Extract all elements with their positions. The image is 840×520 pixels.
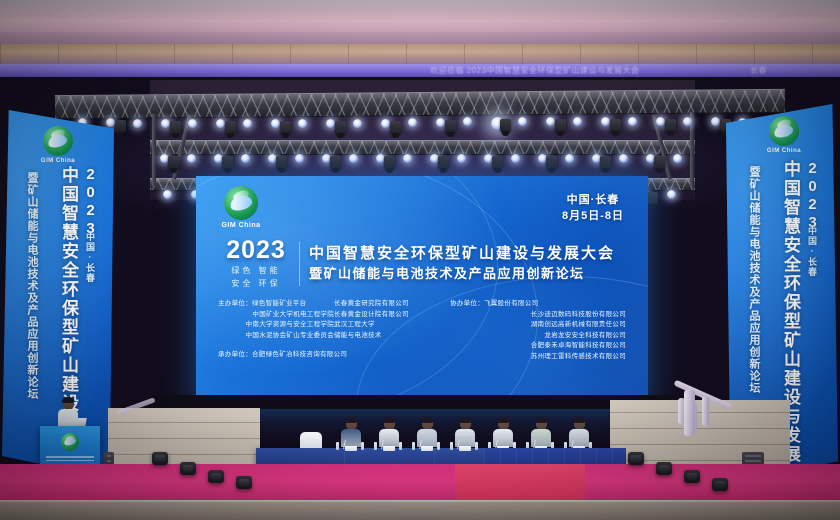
- co-col-3: 龙岩龙安安全科技有限公司: [450, 331, 626, 342]
- mid-truss: [150, 140, 695, 155]
- stage-lamp: [573, 117, 582, 126]
- moving-head-floor-light: [628, 452, 644, 465]
- banner-right-location: 中国·长春: [806, 226, 819, 277]
- host-col2-row1: 长春黄金设计院有限公司: [334, 310, 450, 321]
- stage-lamp: [187, 154, 196, 163]
- screen-dates: 8月5日-8日: [562, 208, 624, 224]
- gim-china-logo-icon: [769, 116, 799, 146]
- venue-ceiling: [0, 0, 840, 46]
- screen-slogan-2: 安全 环保: [222, 278, 290, 289]
- moving-head-light: [492, 156, 503, 170]
- stage-lamp: [673, 154, 682, 163]
- stage-lamp: [667, 190, 676, 199]
- water-bottle: [412, 442, 415, 450]
- baluster-post: [702, 396, 709, 426]
- co-col-1: 长沙迪迈数码科技股份有限公司: [450, 310, 626, 321]
- host-col1-row1: 中国矿业大学机电工程学院: [218, 310, 334, 321]
- stair-edge: [108, 422, 260, 423]
- screen-titles: 中国智慧安全环保型矿山建设与发展大会 暨矿山储能与电池技术及产品应用创新论坛: [309, 244, 622, 283]
- light-lens: [183, 465, 193, 472]
- name-plate: [459, 446, 471, 451]
- ticker-text-right: 长春: [750, 65, 767, 76]
- screen-logo-text: GIM China: [210, 222, 272, 229]
- moving-head-light: [222, 156, 233, 170]
- light-lens: [687, 473, 697, 480]
- moving-head-light: [390, 121, 401, 135]
- front-step: [0, 502, 840, 520]
- speaker-hair: [62, 397, 74, 403]
- stage-lamp: [511, 154, 520, 163]
- banner-right-year: 2023: [804, 160, 821, 232]
- screen-location: 中国·长春: [562, 192, 624, 208]
- screen-year-block: 2023 绿色 智能 安全 环保: [222, 238, 290, 289]
- banner-right-logo-text: GIM China: [754, 148, 814, 154]
- host-col2-row3: 储能与电池技术: [334, 331, 450, 342]
- panelist-hair: [345, 417, 357, 423]
- gim-china-logo-icon: [43, 126, 73, 156]
- truss-support-left: [152, 114, 156, 186]
- ceiling-cornice: [0, 44, 840, 66]
- water-bottle: [437, 442, 440, 450]
- banner-left-logo-text: GIM China: [28, 158, 88, 164]
- co-col-5: 苏州理工雷科传感技术有限公司: [450, 352, 626, 363]
- screen-location-block: 中国·长春 8月5日-8日: [562, 192, 624, 224]
- water-bottle: [399, 442, 402, 450]
- host-col2-row2: 武汉工程大学: [334, 320, 450, 331]
- host-column-2: 长春黄金研究院有限公司 长春黄金设计院有限公司 武汉工程大学 储能与电池技术: [334, 299, 450, 362]
- host-label: 主办单位：: [218, 300, 252, 307]
- stage-lamp: [161, 119, 170, 128]
- host-label-row: 主办单位：绿色智能矿业平台: [218, 299, 334, 310]
- stage-lamp: [163, 190, 172, 199]
- gim-china-logo-icon: [61, 433, 79, 451]
- moving-head-floor-light: [684, 470, 700, 483]
- light-lens: [659, 465, 669, 472]
- podium-logo: [60, 433, 80, 453]
- moving-head-light: [384, 156, 395, 170]
- host-col1-row3: 中国水泥协会矿山专业委员会: [218, 331, 334, 342]
- screen-logo: GIM China: [210, 186, 272, 229]
- stage-lamp: [628, 117, 637, 126]
- co-col-0: 飞翼股份有限公司: [484, 300, 538, 307]
- stage-lamp: [683, 117, 692, 126]
- stair-edge: [610, 412, 790, 413]
- stair-edge: [108, 438, 260, 439]
- moving-head-light: [654, 156, 665, 170]
- ceiling-light-band: [0, 20, 840, 32]
- stage-lamp: [295, 154, 304, 163]
- co-label-row: 协办单位：飞翼股份有限公司: [450, 299, 626, 310]
- stage-lamp: [546, 117, 555, 126]
- water-bottle: [336, 442, 339, 450]
- light-lens: [211, 473, 221, 480]
- stage-lamp: [619, 154, 628, 163]
- stage-lamp: [601, 117, 610, 126]
- moving-head-light: [647, 192, 658, 206]
- main-led-screen: GIM China 中国·长春 8月5日-8日 2023 绿色 智能 安全 环保…: [196, 176, 648, 409]
- led-ticker-strip: 欢迎莅临 2023中国智慧安全环保型矿山建设与发展大会 长春: [0, 64, 840, 77]
- ticker-text-left: 欢迎莅临 2023中国智慧安全环保型矿山建设与发展大会: [430, 65, 640, 76]
- stage-lamp: [106, 118, 115, 127]
- moving-head-light: [170, 121, 181, 135]
- gim-china-logo-icon: [224, 186, 258, 220]
- moving-head-floor-light: [152, 452, 168, 465]
- stage-lamp: [656, 117, 665, 126]
- stage-lamp: [133, 119, 142, 128]
- moving-head-light: [546, 156, 557, 170]
- light-lens: [239, 479, 249, 486]
- banner-right-logo: GIM China: [754, 116, 814, 154]
- podium-speaker: [58, 398, 78, 427]
- banner-left-subtitle: 暨矿山储能与电池技术及产品应用创新论坛: [24, 172, 40, 462]
- stair-edge: [108, 454, 260, 455]
- stage-lamp: [353, 119, 362, 128]
- panelist-hair: [535, 417, 547, 423]
- water-bottle: [450, 442, 453, 450]
- undertaker-row: 承办单位：合肥绿色矿冶科技咨询有限公司: [218, 348, 347, 358]
- moving-head-light: [500, 119, 511, 133]
- screen-title-line2: 暨矿山储能与电池技术及产品应用创新论坛: [309, 264, 622, 283]
- host-col1-row2: 中南大学资源与安全工程学院: [218, 320, 334, 331]
- panelist-hair: [421, 417, 433, 423]
- moving-head-floor-light: [180, 462, 196, 475]
- stage-lamp: [216, 119, 225, 128]
- co-organizer-column: 协办单位：飞翼股份有限公司 长沙迪迈数码科技股份有限公司 湖南创远高新机械有限责…: [450, 299, 626, 362]
- moving-head-light: [335, 121, 346, 135]
- moving-head-light: [168, 156, 179, 170]
- stage-lamp: [565, 154, 574, 163]
- panelist-hair: [497, 417, 509, 423]
- moving-head-light: [555, 119, 566, 133]
- stage-lamp: [436, 118, 445, 127]
- undertaker-label: 承办单位：: [218, 351, 252, 358]
- stair-edge: [610, 444, 790, 445]
- stage-lamp: [518, 117, 527, 126]
- light-lens: [631, 455, 641, 462]
- host-col2-row0: 长春黄金研究院有限公司: [334, 299, 450, 310]
- moving-head-floor-light: [712, 478, 728, 491]
- stage-lamp: [241, 154, 250, 163]
- speaker-body: [58, 409, 78, 427]
- moving-head-light: [665, 119, 676, 133]
- moving-head-light: [330, 156, 341, 170]
- moving-head-floor-light: [208, 470, 224, 483]
- stage-lamp: [457, 154, 466, 163]
- name-plate: [383, 446, 395, 451]
- moving-head-light: [280, 121, 291, 135]
- screen-title-row: 2023 绿色 智能 安全 环保 中国智慧安全环保型矿山建设与发展大会 暨矿山储…: [222, 238, 622, 289]
- host-col1-0: 绿色智能矿业平台: [252, 300, 306, 307]
- title-divider: [299, 242, 300, 286]
- moving-head-light: [276, 156, 287, 170]
- stage-lamp: [271, 119, 280, 128]
- name-plate: [421, 446, 433, 451]
- baluster-newel: [684, 390, 695, 436]
- screen-year: 2023: [222, 238, 290, 263]
- co-col-2: 湖南创远高新机械有限责任公司: [450, 320, 626, 331]
- stair-edge: [610, 428, 790, 429]
- co-col-4: 合肥泰禾卓海智能科技有限公司: [450, 341, 626, 352]
- banner-left-location: 中国·长春: [84, 232, 97, 283]
- stage-lamp: [403, 154, 412, 163]
- name-plate: [345, 446, 357, 451]
- water-bottle: [374, 442, 377, 450]
- moving-head-light: [438, 156, 449, 170]
- co-organizer-label: 协办单位：: [450, 300, 484, 307]
- moving-head-floor-light: [236, 476, 252, 489]
- stage-lamp: [326, 119, 335, 128]
- moving-head-light: [115, 120, 126, 134]
- moving-head-floor-light: [656, 462, 672, 475]
- stage-lamp: [381, 119, 390, 128]
- moving-head-light: [600, 156, 611, 170]
- moving-head-light: [225, 121, 236, 135]
- banner-left-logo: GIM China: [28, 126, 88, 164]
- moving-head-light: [445, 120, 456, 134]
- banner-left-year: 2023: [82, 166, 99, 238]
- screen-title-line1: 中国智慧安全环保型矿山建设与发展大会: [309, 244, 622, 264]
- panelist-hair: [459, 417, 471, 423]
- conference-stage-photo: 欢迎莅临 2023中国智慧安全环保型矿山建设与发展大会 长春 GIM China…: [0, 0, 840, 520]
- water-bottle: [361, 442, 364, 450]
- undertaker-name: 合肥绿色矿冶科技咨询有限公司: [252, 351, 347, 358]
- moving-head-light: [610, 119, 621, 133]
- panelist-hair: [573, 417, 585, 423]
- light-lens: [715, 481, 725, 488]
- panelist-hair: [383, 417, 395, 423]
- stage-chair: [300, 432, 322, 448]
- podium-title-lines: [46, 456, 94, 463]
- light-lens: [155, 455, 165, 462]
- screen-slogan-1: 绿色 智能: [222, 265, 290, 276]
- stage-lamp: [711, 117, 720, 126]
- water-bottle: [475, 442, 478, 450]
- stage-lamp: [349, 154, 358, 163]
